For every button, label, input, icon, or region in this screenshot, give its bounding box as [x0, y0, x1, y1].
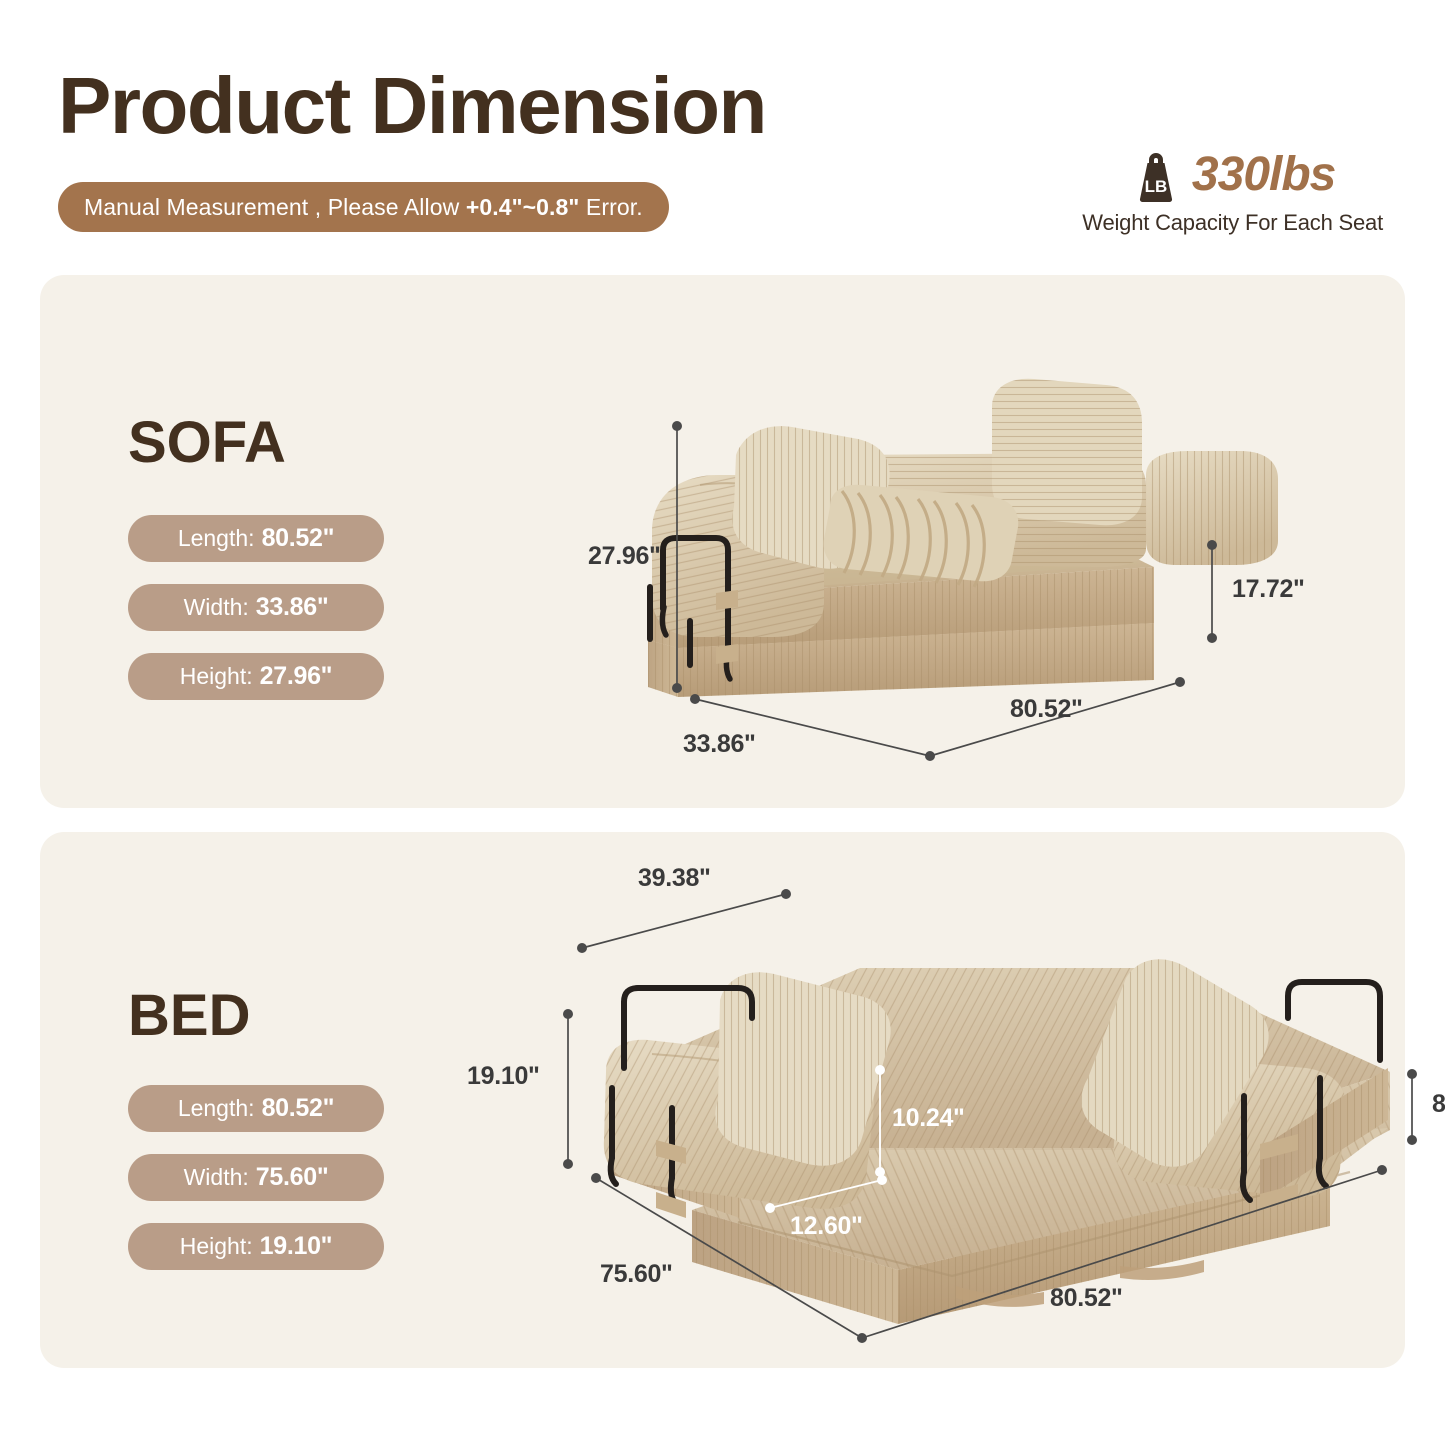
sofa-spec-length: Length: 80.52": [128, 515, 384, 562]
bed-spec-length-value: 80.52": [262, 1094, 335, 1123]
sofa-spec-width-value: 33.86": [256, 593, 329, 622]
bed-illustration: 39.38" 19.10" 10.24" 12.60" 8.86" 75.60"…: [560, 872, 1410, 1342]
weight-lb-icon: LB: [1130, 148, 1182, 202]
sofa-dim-depth-front: 33.86": [683, 730, 756, 759]
bed-spec-height-label: Height:: [180, 1233, 253, 1260]
sofa-spec-width: Width: 33.86": [128, 584, 384, 631]
bed-spec-width: Width: 75.60": [128, 1154, 384, 1201]
sofa-spec-length-label: Length:: [178, 525, 255, 552]
weight-capacity-value: 330lbs: [1192, 151, 1335, 199]
sofa-spec-width-label: Width:: [184, 594, 249, 621]
sofa-spec-length-value: 80.52": [262, 524, 335, 553]
weight-capacity-row: LB 330lbs: [1130, 148, 1335, 202]
note-suffix: Error.: [579, 194, 642, 220]
sofa-section-panel: SOFA Length: 80.52" Width: 33.86" Height…: [40, 275, 1405, 808]
sofa-product-drawing: [540, 335, 1360, 765]
bed-dim-length-front: 80.52": [1050, 1284, 1123, 1313]
bed-spec-width-label: Width:: [184, 1164, 249, 1191]
bed-spec-length-label: Length:: [178, 1095, 255, 1122]
measurement-note-text: Manual Measurement , Please Allow +0.4"~…: [84, 194, 643, 221]
sofa-spec-height: Height: 27.96": [128, 653, 384, 700]
bed-dim-depth-front: 75.60": [600, 1260, 673, 1289]
bed-spec-height-value: 19.10": [260, 1232, 333, 1261]
bed-section-panel: BED Length: 80.52" Width: 75.60" Height:…: [40, 832, 1405, 1368]
sofa-spec-list: Length: 80.52" Width: 33.86" Height: 27.…: [128, 515, 384, 700]
bed-spec-width-value: 75.60": [256, 1163, 329, 1192]
sofa-dim-height-right: 17.72": [1232, 575, 1305, 604]
sofa-spec-height-value: 27.96": [260, 662, 333, 691]
bed-product-drawing: [560, 872, 1420, 1352]
sofa-dim-length-front: 80.52": [1010, 695, 1083, 724]
page-header: Product Dimension Manual Measurement , P…: [0, 0, 1445, 275]
bed-spec-height: Height: 19.10": [128, 1223, 384, 1270]
bed-dim-height-right: 8.86": [1432, 1090, 1445, 1119]
bed-heading: BED: [128, 987, 250, 1045]
page-title: Product Dimension: [58, 66, 766, 146]
bed-dim-height-left: 19.10": [467, 1062, 540, 1091]
measurement-note-badge: Manual Measurement , Please Allow +0.4"~…: [58, 182, 669, 232]
bed-spec-list: Length: 80.52" Width: 75.60" Height: 19.…: [128, 1085, 384, 1270]
sofa-spec-height-label: Height:: [180, 663, 253, 690]
bed-dim-bolster-depth: 12.60": [790, 1212, 863, 1241]
bed-dim-top-width: 39.38": [638, 864, 711, 893]
sofa-dim-height-left: 27.96": [588, 542, 661, 571]
note-prefix: Manual Measurement , Please Allow: [84, 194, 466, 220]
svg-text:LB: LB: [1145, 177, 1168, 196]
weight-capacity-badge: LB 330lbs Weight Capacity For Each Seat: [1082, 148, 1383, 236]
note-tolerance: +0.4"~0.8": [466, 194, 580, 220]
sofa-heading: SOFA: [128, 414, 286, 472]
sofa-illustration: 27.96" 17.72" 33.86" 80.52": [540, 335, 1360, 755]
bed-spec-length: Length: 80.52": [128, 1085, 384, 1132]
weight-capacity-caption: Weight Capacity For Each Seat: [1082, 210, 1383, 236]
bed-dim-bolster-height: 10.24": [892, 1104, 965, 1133]
